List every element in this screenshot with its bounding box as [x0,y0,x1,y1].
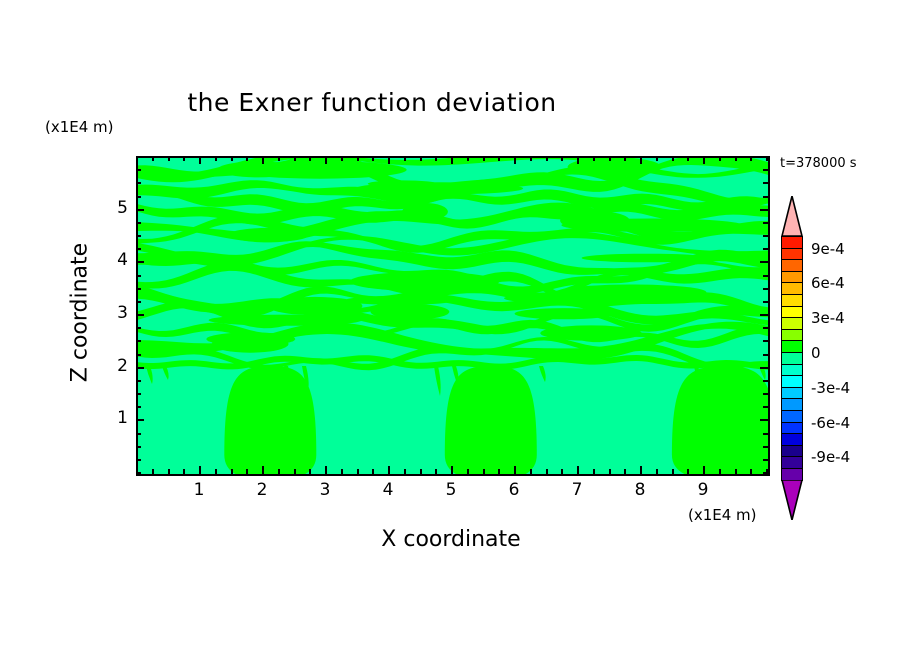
x-minor-tick-top [483,156,485,161]
x-minor-tick-top [735,156,737,161]
contour-field [138,158,768,474]
x-major-tick [640,466,642,474]
y-minor-tick [136,182,141,184]
x-minor-tick [624,469,626,474]
y-minor-tick-right [763,446,768,448]
contour-streak [368,180,438,187]
y-major-tick [136,209,144,211]
contour-streak [345,296,455,305]
y-minor-tick [136,235,141,237]
x-major-tick [199,466,201,474]
x-minor-tick-top [435,156,437,161]
colorbar-tick-label: -6e-4 [811,414,850,432]
x-minor-tick-top [546,156,548,161]
x-minor-tick [672,469,674,474]
y-minor-tick [136,446,141,448]
x-minor-tick [530,469,532,474]
y-major-tick [136,419,144,421]
x-minor-tick-top [152,156,154,161]
y-minor-tick [136,340,141,342]
y-minor-tick [136,406,141,408]
x-minor-tick-top [530,156,532,161]
x-minor-tick [593,469,595,474]
y-minor-tick [136,472,141,474]
y-major-tick-right [760,209,768,211]
x-minor-tick-top [231,156,233,161]
x-tick-label: 1 [179,480,219,500]
x-major-tick [451,466,453,474]
x-minor-tick [546,469,548,474]
y-minor-tick-right [763,327,768,329]
x-minor-tick-top [341,156,343,161]
x-minor-tick [152,469,154,474]
x-tick-label: 7 [557,480,597,500]
contour-streak [218,161,299,177]
y-minor-tick [136,380,141,382]
x-minor-tick [561,469,563,474]
y-major-tick-right [760,261,768,263]
x-minor-tick [735,469,737,474]
x-major-tick-top [703,156,705,164]
x-minor-tick-top [467,156,469,161]
y-tick-label: 1 [88,408,128,428]
colorbar-tick-label: 3e-4 [811,309,845,327]
x-minor-tick-top [168,156,170,161]
y-minor-tick-right [763,433,768,435]
x-minor-tick [467,469,469,474]
y-tick-label: 3 [88,303,128,323]
y-minor-tick-right [763,459,768,461]
x-major-tick-top [262,156,264,164]
page-title: the Exner function deviation [0,88,904,117]
contour-streak [540,325,641,340]
y-major-tick [136,314,144,316]
x-minor-tick [357,469,359,474]
x-minor-tick-top [309,156,311,161]
convective-cell [445,366,537,474]
x-tick-label: 9 [683,480,723,500]
x-minor-tick [420,469,422,474]
y-minor-tick-right [763,393,768,395]
y-minor-tick-right [763,340,768,342]
x-minor-tick-top [183,156,185,161]
x-minor-tick [719,469,721,474]
x-minor-tick [498,469,500,474]
x-major-tick [262,466,264,474]
x-minor-tick [687,469,689,474]
contour-streak [561,219,742,232]
contour-streak [228,228,309,242]
x-major-tick-top [514,156,516,164]
x-minor-tick [309,469,311,474]
y-minor-tick [136,275,141,277]
x-minor-tick [609,469,611,474]
x-tick-label: 4 [368,480,408,500]
x-major-tick-top [199,156,201,164]
x-minor-tick [294,469,296,474]
x-minor-tick [168,469,170,474]
y-minor-tick [136,393,141,395]
y-minor-tick-right [763,406,768,408]
x-major-tick [514,466,516,474]
z-axis-unit-label: (x1E4 m) [45,118,114,136]
contour-streak [548,291,678,300]
x-minor-tick-top [672,156,674,161]
y-minor-tick-right [763,169,768,171]
x-minor-tick-top [372,156,374,161]
y-major-tick-right [760,419,768,421]
colorbar-tick-label: 9e-4 [811,240,845,258]
x-minor-tick [215,469,217,474]
colorbar-tick-label: -3e-4 [811,379,850,397]
x-minor-tick [231,469,233,474]
y-minor-tick [136,248,141,250]
x-minor-tick [750,469,752,474]
x-major-tick [325,466,327,474]
x-major-tick-top [451,156,453,164]
x-minor-tick [404,469,406,474]
y-minor-tick-right [763,275,768,277]
x-minor-tick [656,469,658,474]
x-tick-label: 6 [494,480,534,500]
y-minor-tick [136,222,141,224]
y-major-tick [136,367,144,369]
y-minor-tick-right [763,472,768,474]
x-minor-tick-top [609,156,611,161]
x-minor-tick [246,469,248,474]
x-minor-tick-top [656,156,658,161]
y-minor-tick [136,288,141,290]
x-major-tick [577,466,579,474]
y-tick-label: 2 [88,356,128,376]
x-minor-tick [372,469,374,474]
x-minor-tick-top [719,156,721,161]
x-minor-tick-top [246,156,248,161]
contour-streak [209,315,362,326]
contour-streak [582,254,712,263]
x-minor-tick [341,469,343,474]
x-major-tick-top [640,156,642,164]
y-minor-tick [136,354,141,356]
x-minor-tick [183,469,185,474]
y-tick-label: 4 [88,250,128,270]
plot-axes-frame [136,156,770,476]
y-major-tick-right [760,367,768,369]
y-minor-tick-right [763,222,768,224]
contour-streak [212,335,289,353]
x-minor-tick-top [498,156,500,161]
x-minor-tick-top [294,156,296,161]
y-major-tick-right [760,314,768,316]
x-minor-tick [483,469,485,474]
x-minor-tick-top [404,156,406,161]
contour-streak [371,304,450,320]
x-tick-label: 3 [305,480,345,500]
x-major-tick-top [577,156,579,164]
x-tick-label: 5 [431,480,471,500]
convective-cell [224,366,316,474]
y-minor-tick [136,196,141,198]
contour-streak [402,203,448,220]
y-minor-tick-right [763,301,768,303]
time-stamp-annotation: t=378000 s [780,156,857,171]
colorbar: 9e-46e-43e-40-3e-4-6e-4-9e-4 [781,196,803,514]
contour-streak [350,272,500,291]
x-major-tick [703,466,705,474]
x-tick-label: 8 [620,480,660,500]
colorbar-tick-label: -9e-4 [811,448,850,466]
x-minor-tick [435,469,437,474]
contour-streak [568,158,661,177]
x-major-tick-top [325,156,327,164]
y-minor-tick [136,433,141,435]
y-minor-tick-right [763,156,768,158]
x-axis-unit-label: (x1E4 m) [688,506,757,524]
x-minor-tick-top [278,156,280,161]
x-major-tick-top [388,156,390,164]
x-minor-tick-top [687,156,689,161]
colorbar-over-arrow [781,196,803,236]
y-minor-tick [136,169,141,171]
x-minor-tick-top [624,156,626,161]
x-minor-tick-top [420,156,422,161]
x-minor-tick-top [750,156,752,161]
x-major-tick [388,466,390,474]
x-tick-label: 2 [242,480,282,500]
x-minor-tick-top [593,156,595,161]
y-minor-tick-right [763,380,768,382]
y-major-tick [136,261,144,263]
y-minor-tick [136,327,141,329]
x-minor-tick-top [215,156,217,161]
y-minor-tick-right [763,196,768,198]
y-minor-tick [136,156,141,158]
x-axis-title: X coordinate [136,527,766,552]
colorbar-tick-label: 0 [811,344,821,362]
y-tick-label: 5 [88,198,128,218]
x-minor-tick-top [357,156,359,161]
contour-plot-figure: the Exner function deviation (x1E4 m) (x… [0,0,904,654]
colorbar-tick-label: 6e-4 [811,274,845,292]
y-minor-tick [136,301,141,303]
y-minor-tick-right [763,182,768,184]
y-minor-tick-right [763,235,768,237]
contour-streak [515,308,615,319]
y-minor-tick-right [763,354,768,356]
convective-cell [672,366,768,474]
x-minor-tick [278,469,280,474]
y-minor-tick-right [763,288,768,290]
colorbar-under-arrow [781,480,803,520]
y-minor-tick-right [763,248,768,250]
x-minor-tick-top [561,156,563,161]
y-minor-tick [136,459,141,461]
